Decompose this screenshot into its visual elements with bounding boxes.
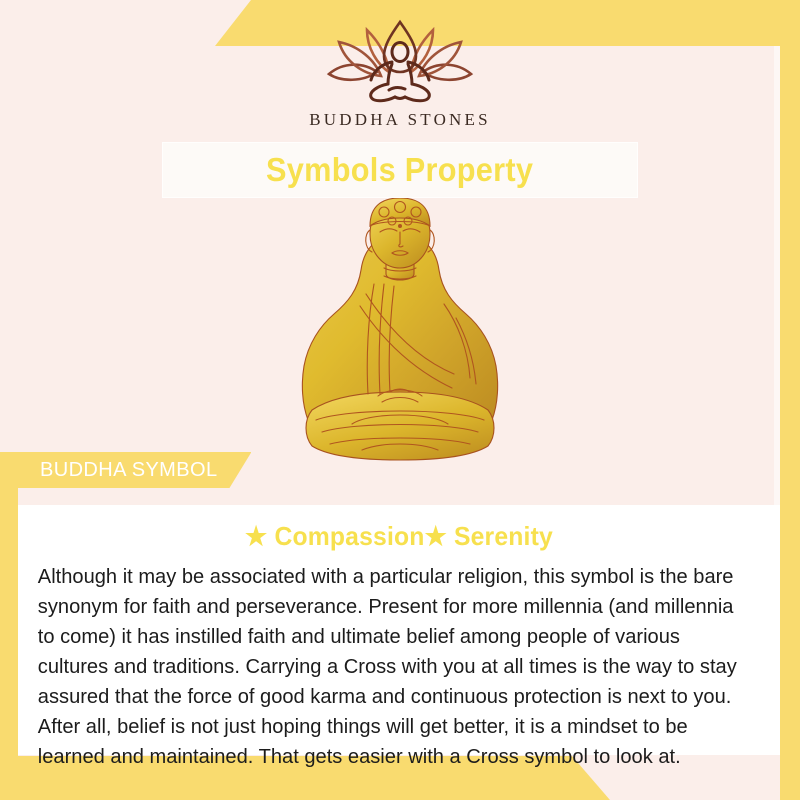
frame-right-band <box>780 46 800 800</box>
page-title: Symbols Property <box>266 151 533 189</box>
brand-name: BUDDHA STONES <box>309 110 491 130</box>
lotus-meditation-icon <box>315 18 485 104</box>
page-root: BUDDHA STONES Symbols Property <box>0 0 800 800</box>
section-ribbon: BUDDHA SYMBOL <box>18 452 251 488</box>
content-subheading: ★ Compassion★ Serenity <box>47 521 752 552</box>
brand-logo: BUDDHA STONES <box>0 18 800 130</box>
golden-seated-buddha-icon <box>296 198 504 488</box>
section-ribbon-label: BUDDHA SYMBOL <box>40 459 217 482</box>
title-banner: Symbols Property <box>163 143 637 197</box>
content-card: ★ Compassion★ Serenity Although it may b… <box>18 505 780 755</box>
content-body: Although it may be associated with a par… <box>28 562 755 772</box>
frame-left-band <box>0 452 18 800</box>
hero-image <box>296 198 504 488</box>
